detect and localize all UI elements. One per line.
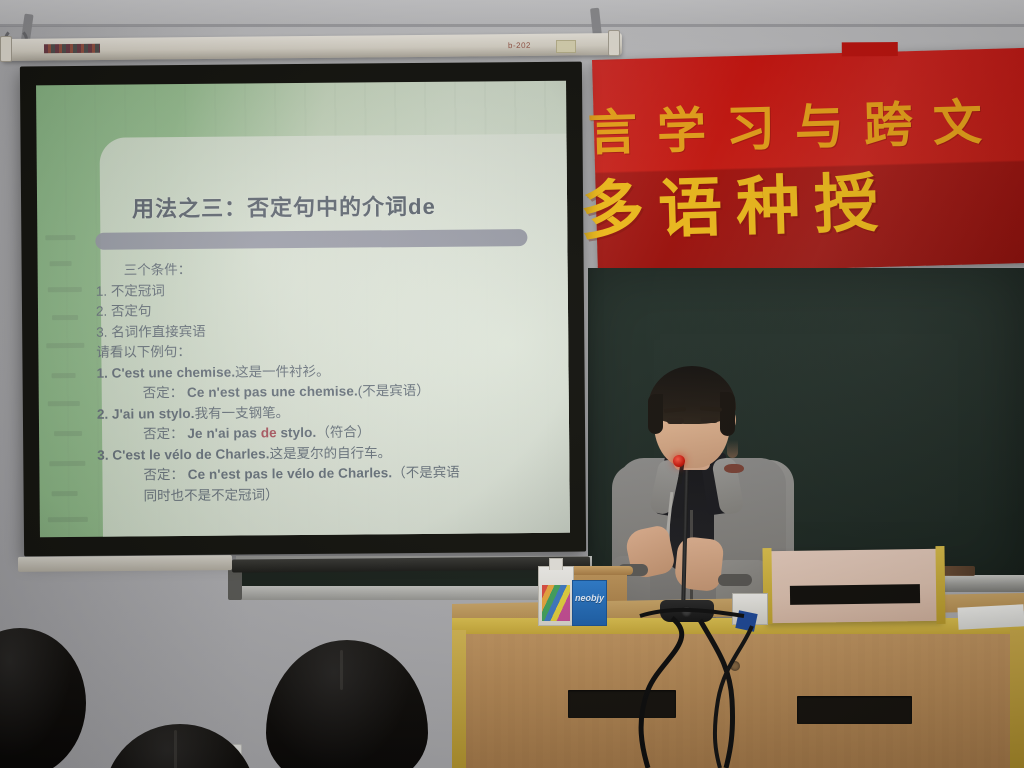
screen-bottom-weight-bar [18,555,232,572]
ceiling-edge-line [0,24,1024,27]
desk-vent-slot-right [797,696,912,724]
desk-wood-grain [452,634,1024,768]
desk-screw [730,661,740,671]
blue-clip-object [735,610,757,632]
screen-light-vignette [36,81,570,538]
ledge-bracket [228,568,242,600]
projection-screen-surface: 用法之三：否定句中的介词de 三个条件： 1. 不定冠词 2. 否定句 3. 名… [36,81,570,538]
speaker-mouth [724,464,744,473]
housing-end-cap-left [0,36,12,62]
red-banner: 言学习与跨文 多语种授 [592,48,1024,275]
microphone-led-indicator [673,455,685,467]
projection-screen-frame: 用法之三：否定句中的介词de 三个条件： 1. 不定冠词 2. 否定句 3. 名… [20,62,586,557]
banner-line-2: 多语种授 [579,147,1024,252]
wall-upper-band [0,0,1024,26]
speaker-eye-left [667,418,684,424]
hair-part-line [174,730,177,768]
paper-sheet [957,604,1024,629]
marker-box-artwork [542,585,570,621]
desk-edge-right [1010,630,1024,768]
podium-trim-right [935,546,945,624]
housing-brand-logo [44,44,100,54]
blue-product-box: neobjy [572,580,607,626]
desk-vent-slot-left [568,690,676,718]
speaker-cuff-right [718,574,752,586]
speaker-nose [727,440,738,458]
microphone-base-knob [681,606,692,617]
marker-box-flap [549,558,563,570]
speaker-eye-right [701,417,718,423]
banner-tape-tab [842,42,898,56]
speaker-hair-left-side [648,394,663,434]
housing-end-cap-right [608,30,620,56]
housing-room-label: b-202 [508,41,531,50]
blue-box-label: neobjy [575,593,604,603]
desk-edge-left [452,630,466,768]
classroom-photo-scene: 言学习与跨文 多语种授 b-202 [0,0,1024,768]
speaker-hair-right-side [720,392,735,436]
marker-pen-box [538,566,574,626]
podium-vent-slot [790,584,920,605]
hair-part-line [340,650,343,690]
housing-sticker [556,40,576,53]
